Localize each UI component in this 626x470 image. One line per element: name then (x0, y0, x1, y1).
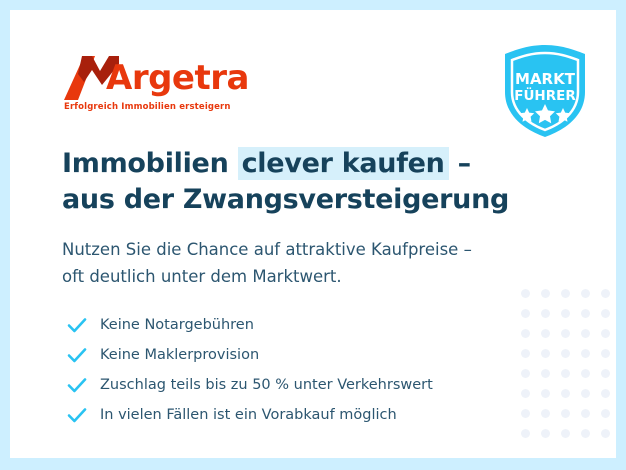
headline-line1-after: – (449, 148, 471, 179)
decoration-dot (581, 369, 590, 378)
subheadline-line2: oft deutlich unter dem Marktwert. (62, 263, 562, 290)
list-item-label: Keine Notargebühren (100, 315, 254, 335)
check-icon (66, 404, 88, 426)
list-item: In vielen Fällen ist ein Vorabkauf mögli… (66, 400, 536, 430)
decoration-dot (581, 349, 590, 358)
decoration-dot (561, 309, 570, 318)
decoration-dot (541, 289, 550, 298)
decoration-dot (521, 289, 530, 298)
decoration-dot (561, 409, 570, 418)
decoration-dot (601, 289, 610, 298)
ad-card: Argetra Erfolgreich Immobilien ersteiger… (10, 10, 616, 458)
list-item-label: Zuschlag teils bis zu 50 % unter Verkehr… (100, 375, 433, 395)
logo-row: Argetra (62, 52, 282, 100)
decoration-dot (561, 329, 570, 338)
decoration-dot (601, 309, 610, 318)
subheadline: Nutzen Sie die Chance auf attraktive Kau… (62, 236, 562, 290)
check-icon (66, 374, 88, 396)
list-item: Keine Notargebühren (66, 310, 536, 340)
decoration-dot (601, 349, 610, 358)
decoration-dot (541, 389, 550, 398)
decoration-dot (601, 329, 610, 338)
decoration-dot (561, 349, 570, 358)
decoration-dot (561, 289, 570, 298)
decoration-dot (561, 429, 570, 438)
headline-highlight: clever kaufen (238, 147, 449, 180)
decoration-dot (601, 429, 610, 438)
decoration-dot (541, 309, 550, 318)
decoration-dot (581, 389, 590, 398)
decoration-dot (601, 409, 610, 418)
decoration-dot (541, 409, 550, 418)
decoration-dot (581, 409, 590, 418)
benefit-list: Keine Notargebühren Keine Maklerprovisio… (66, 310, 536, 430)
market-leader-badge: MARKT FÜHRER (499, 42, 591, 140)
decoration-dot (521, 429, 530, 438)
badge-line1-text: MARKT (515, 70, 576, 88)
decoration-dot (581, 329, 590, 338)
badge-line2-text: FÜHRER (514, 86, 576, 104)
headline-line2: aus der Zwangsversteigerung (62, 182, 562, 218)
decoration-dot (581, 309, 590, 318)
list-item-label: Keine Maklerprovision (100, 345, 259, 365)
decoration-dot (541, 369, 550, 378)
logo-wordmark: Argetra (106, 58, 249, 98)
decoration-dot (601, 369, 610, 378)
check-icon (66, 314, 88, 336)
logo-tagline: Erfolgreich Immobilien ersteigern (64, 102, 231, 112)
list-item: Keine Maklerprovision (66, 340, 536, 370)
headline-line1-before: Immobilien (62, 148, 238, 179)
decoration-dot (581, 429, 590, 438)
decoration-dot (601, 389, 610, 398)
brand-logo[interactable]: Argetra Erfolgreich Immobilien ersteiger… (62, 52, 282, 100)
check-icon (66, 344, 88, 366)
subheadline-line1: Nutzen Sie die Chance auf attraktive Kau… (62, 236, 562, 263)
list-item-label: In vielen Fällen ist ein Vorabkauf mögli… (100, 405, 397, 425)
decoration-dot (561, 389, 570, 398)
decoration-dot (581, 289, 590, 298)
decoration-dot (541, 329, 550, 338)
page-title: Immobilien clever kaufen – aus der Zwang… (62, 146, 562, 218)
decoration-dot (541, 349, 550, 358)
decoration-dot (541, 429, 550, 438)
decoration-dot (561, 369, 570, 378)
list-item: Zuschlag teils bis zu 50 % unter Verkehr… (66, 370, 536, 400)
ad-banner: Argetra Erfolgreich Immobilien ersteiger… (0, 0, 626, 470)
